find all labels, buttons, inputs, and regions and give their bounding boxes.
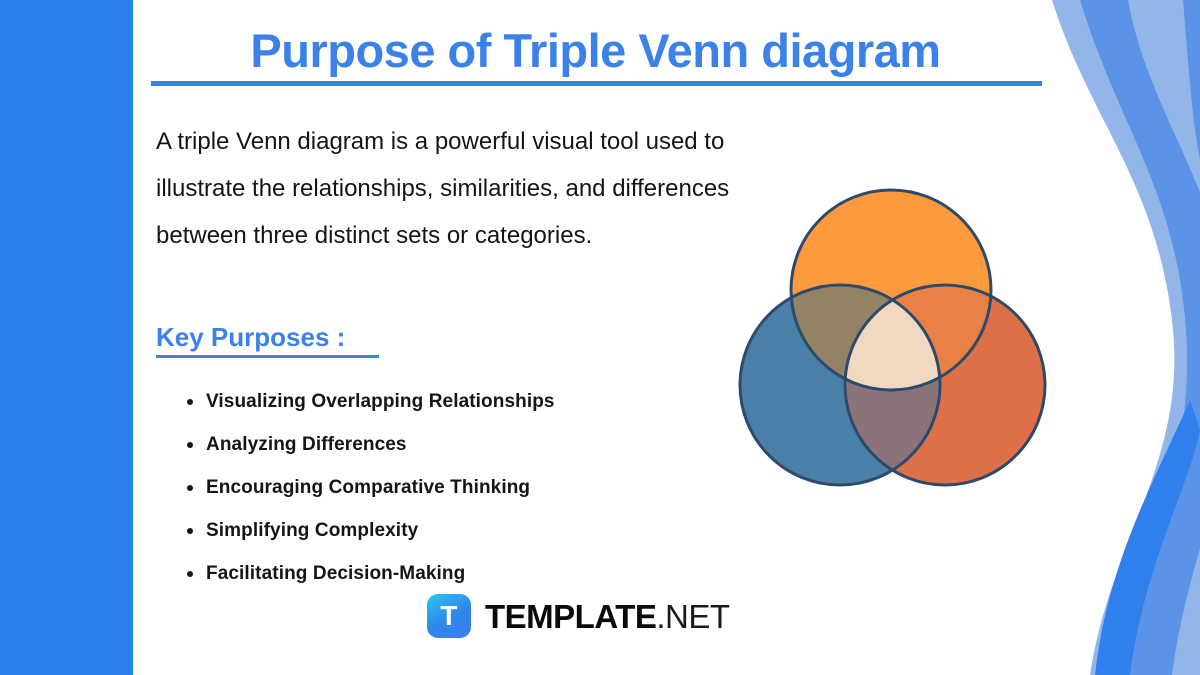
intro-paragraph: A triple Venn diagram is a powerful visu… — [156, 118, 746, 259]
wave-corner-accent — [1183, 0, 1200, 160]
list-item: Facilitating Decision-Making — [206, 552, 766, 595]
page-title-underline — [151, 81, 1042, 86]
content-column: Purpose of Triple Venn diagram A triple … — [152, 0, 752, 675]
key-purposes-heading: Key Purposes : — [156, 322, 379, 358]
list-item: Analyzing Differences — [206, 423, 766, 466]
wave-light-top — [1108, 0, 1200, 300]
wave-medium-ribbon — [1080, 0, 1200, 675]
left-accent-bar — [0, 0, 133, 675]
logo-name-light: .NET — [656, 598, 729, 635]
template-net-wordmark: TEMPLATE.NET — [485, 600, 730, 633]
logo-name-bold: TEMPLATE — [485, 598, 656, 635]
template-net-logo-icon: T — [427, 594, 471, 638]
logo-mark-letter: T — [440, 602, 458, 630]
list-item: Visualizing Overlapping Relationships — [206, 380, 766, 423]
template-net-logo: T TEMPLATE.NET — [427, 594, 730, 638]
slide-canvas: Purpose of Triple Venn diagram A triple … — [0, 0, 1200, 675]
key-purposes-heading-underline — [156, 355, 379, 358]
wave-light-band — [1052, 0, 1200, 675]
list-item: Simplifying Complexity — [206, 509, 766, 552]
wave-dark-ribbon — [1095, 400, 1200, 675]
key-purposes-list: Visualizing Overlapping Relationships An… — [176, 380, 766, 595]
key-purposes-heading-text: Key Purposes : — [156, 322, 379, 353]
page-title: Purpose of Triple Venn diagram — [152, 24, 1052, 86]
list-item: Encouraging Comparative Thinking — [206, 466, 766, 509]
triple-venn-diagram — [730, 180, 1060, 500]
page-title-text: Purpose of Triple Venn diagram — [148, 24, 1043, 78]
